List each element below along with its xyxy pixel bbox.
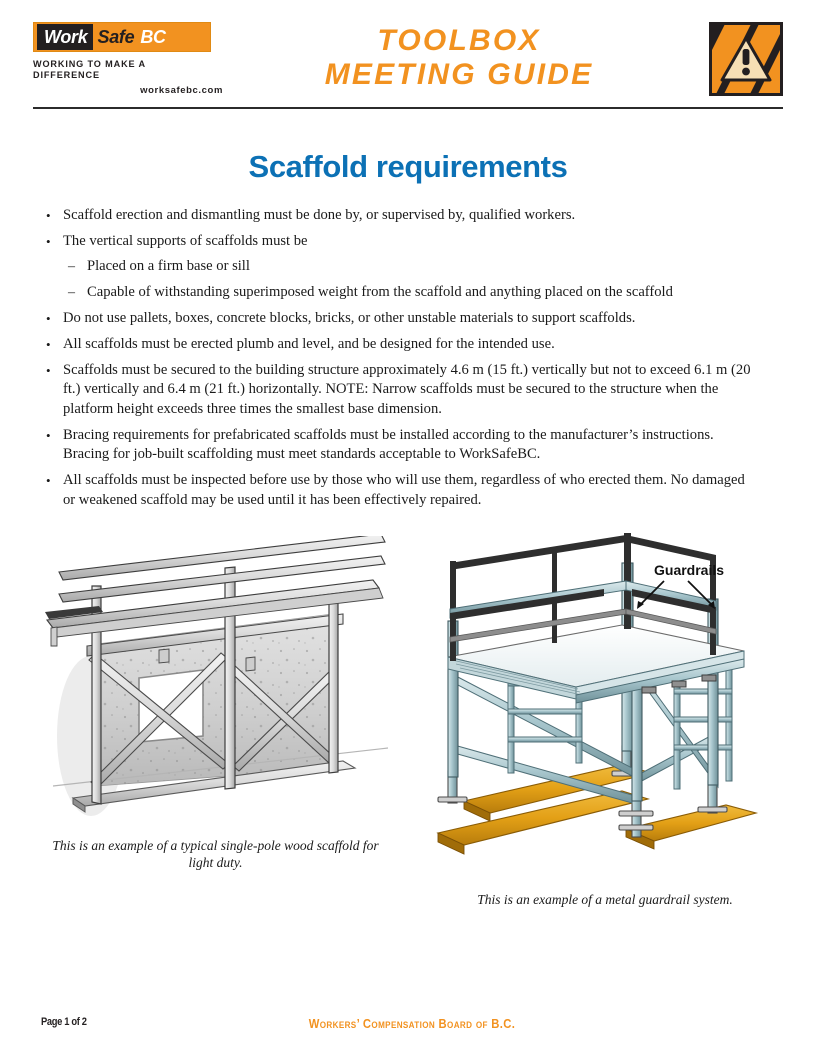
bullet-marker: • <box>41 309 63 329</box>
bullet-marker: • <box>41 471 63 491</box>
wood-scaffold-illustration <box>43 536 388 826</box>
bullet-marker: • <box>41 361 63 381</box>
list-item-text: Scaffold erection and dismantling must b… <box>63 206 759 226</box>
document-page: Work Safe BC WORKING TO MAKE A DIFFERENC… <box>0 0 816 1056</box>
logo-safe-text: Safe <box>97 28 134 46</box>
logo-tagline: WORKING TO MAKE A DIFFERENCE <box>33 59 215 81</box>
bullet-marker: • <box>41 335 63 355</box>
list-item-text: All scaffolds must be inspected before u… <box>63 471 759 510</box>
wood-scaffold-figure: This is an example of a typical single-p… <box>43 536 388 871</box>
sub-list-item-text: Capable of withstanding superimposed wei… <box>87 283 759 303</box>
page-title: Scaffold requirements <box>0 148 816 186</box>
list-item: • Scaffolds must be secured to the build… <box>41 361 759 420</box>
bullet-marker: • <box>41 206 63 226</box>
sub-bullet-marker: – <box>68 257 87 277</box>
metal-guardrail-scaffold-illustration: Guardrails <box>426 533 766 878</box>
bullet-marker: • <box>41 232 63 252</box>
list-item-text: Do not use pallets, boxes, concrete bloc… <box>63 309 759 329</box>
header-divider <box>33 107 783 109</box>
footer-organization: Workers’ Compensation Board of B.C. <box>78 1017 746 1031</box>
logo-website-url: worksafebc.com <box>33 85 223 96</box>
sub-bullet-marker: – <box>68 283 87 303</box>
guardrails-label: Guardrails <box>654 562 724 578</box>
logo-work-block: Work <box>37 24 93 50</box>
header-title-line1: TOOLBOX <box>377 24 540 57</box>
metal-guardrail-figure: Guardrails This is an example of a metal… <box>426 533 766 908</box>
figure-caption: This is an example of a metal guardrail … <box>444 891 766 908</box>
logo-wordmark: Work Safe BC <box>33 22 211 52</box>
page-header: Work Safe BC WORKING TO MAKE A DIFFERENC… <box>33 22 783 94</box>
requirements-list: • Scaffold erection and dismantling must… <box>41 206 759 517</box>
list-item: • Bracing requirements for prefabricated… <box>41 426 759 465</box>
list-item-text: Bracing requirements for prefabricated s… <box>63 426 759 465</box>
list-item: • Scaffold erection and dismantling must… <box>41 206 759 226</box>
list-item: • All scaffolds must be erected plumb an… <box>41 335 759 355</box>
logo-bc-text: BC <box>140 28 165 46</box>
header-title-line2: MEETING GUIDE <box>249 58 669 92</box>
figure-caption: This is an example of a typical single-p… <box>43 837 388 871</box>
list-item-text: The vertical supports of scaffolds must … <box>63 232 759 252</box>
hazard-warning-icon <box>709 22 783 96</box>
sub-list-item-text: Placed on a firm base or sill <box>87 257 759 277</box>
list-item: • The vertical supports of scaffolds mus… <box>41 232 759 252</box>
worksafebc-logo: Work Safe BC WORKING TO MAKE A DIFFERENC… <box>33 22 245 96</box>
header-title: TOOLBOX MEETING GUIDE <box>249 24 669 92</box>
page-footer: Page 1 of 2 Workers’ Compensation Board … <box>41 1016 783 1036</box>
sub-list-item: – Capable of withstanding superimposed w… <box>41 283 759 303</box>
logo-work-text: Work <box>44 28 87 46</box>
list-item: • Do not use pallets, boxes, concrete bl… <box>41 309 759 329</box>
sub-list-item: – Placed on a firm base or sill <box>41 257 759 277</box>
list-item: • All scaffolds must be inspected before… <box>41 471 759 510</box>
list-item-text: All scaffolds must be erected plumb and … <box>63 335 759 355</box>
bullet-marker: • <box>41 426 63 446</box>
list-item-text: Scaffolds must be secured to the buildin… <box>63 361 759 420</box>
